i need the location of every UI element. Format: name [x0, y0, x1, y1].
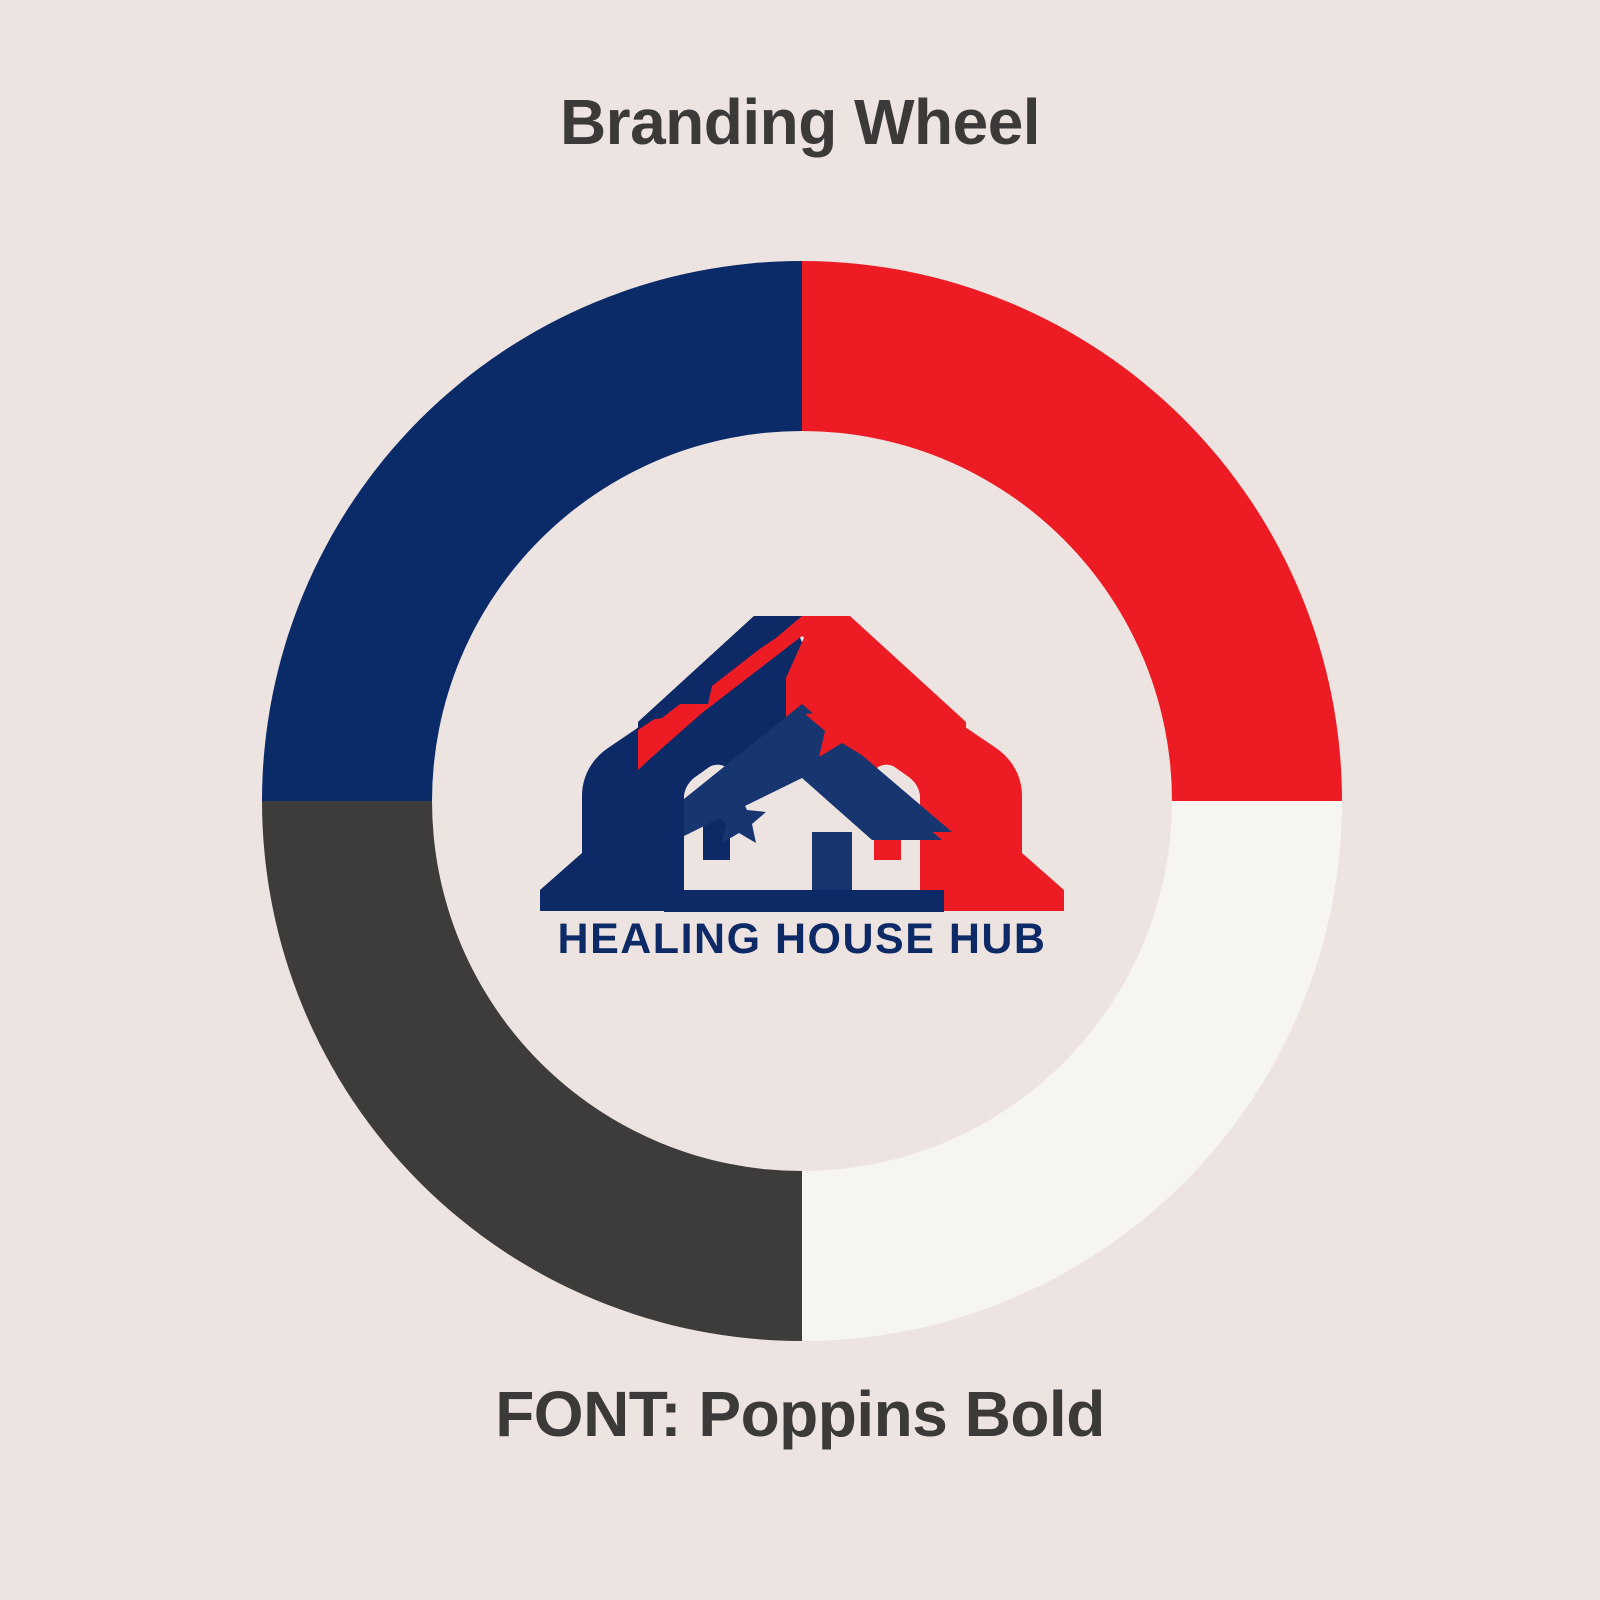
page-title: Branding Wheel	[0, 90, 1600, 154]
logo-wordmark: HEALING HOUSE HUB	[558, 915, 1047, 960]
house-ground-line	[664, 890, 944, 912]
house-door-icon	[812, 832, 852, 894]
logo-svg: HEALING HOUSE HUB	[512, 600, 1092, 960]
branding-wheel-page: Branding Wheel	[0, 0, 1600, 1600]
font-note: FONT: Poppins Bold	[0, 1382, 1600, 1446]
healing-house-hub-logo: HEALING HOUSE HUB	[512, 600, 1092, 960]
